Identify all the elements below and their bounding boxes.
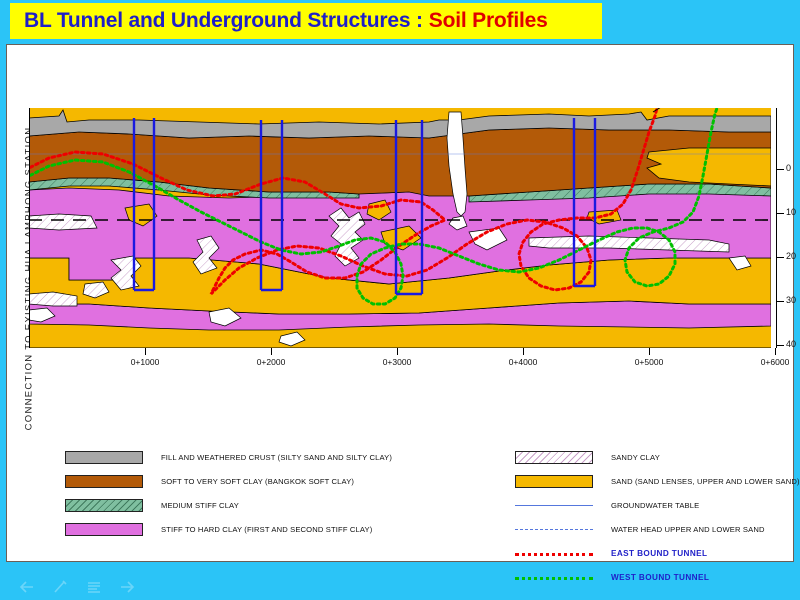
legend-soft-clay: SOFT TO VERY SOFT CLAY (BANGKOK SOFT CLA…: [65, 469, 392, 493]
legend-sandy-clay-swatch: [515, 451, 593, 464]
legend-west-bound-tunnel: WEST BOUND TUNNEL: [515, 565, 800, 589]
depth-tick: [777, 169, 784, 170]
chainage-tick: [649, 348, 650, 355]
depth-label: 30: [786, 295, 796, 305]
chainage-label: 0+1000: [131, 357, 160, 367]
axis-right: [776, 108, 777, 348]
legend-groundwater-table-label: GROUNDWATER TABLE: [611, 501, 699, 510]
depth-tick: [777, 301, 784, 302]
forward-arrow-icon[interactable]: [120, 580, 136, 594]
legend-groundwater-table-sample: [515, 499, 593, 512]
legend-soft-clay-swatch: [65, 475, 143, 488]
section-svg: [29, 108, 771, 348]
legend-fill-weathered-crust-swatch: [65, 451, 143, 464]
depth-label: 40: [786, 339, 796, 349]
chainage-label: 0+4000: [509, 357, 538, 367]
legend-medium-stiff-clay-label: MEDIUM STIFF CLAY: [161, 501, 239, 510]
bottom-toolbar[interactable]: [18, 580, 136, 594]
legend-east-bound-tunnel-sample: [515, 547, 593, 560]
page-title-main: BL Tunnel and Underground Structures :: [24, 9, 423, 33]
depth-tick: [777, 345, 784, 346]
legend-west-bound-tunnel-sample: [515, 571, 593, 584]
chainage-tick: [271, 348, 272, 355]
chainage-label: 0+6000: [761, 357, 790, 367]
depth-label: 20: [786, 251, 796, 261]
legend-fill-weathered-crust-label: FILL AND WEATHERED CRUST (SILTY SAND AND…: [161, 453, 392, 462]
axis-left: [29, 108, 30, 348]
depth-label: 10: [786, 207, 796, 217]
legend-sand: SAND (SAND LENSES, UPPER AND LOWER SAND): [515, 469, 800, 493]
sandy-clay-lens-1: [29, 214, 97, 230]
chainage-label: 0+3000: [383, 357, 412, 367]
legend-soft-clay-label: SOFT TO VERY SOFT CLAY (BANGKOK SOFT CLA…: [161, 477, 354, 486]
chainage-tick: [145, 348, 146, 355]
depth-tick: [777, 213, 784, 214]
legend-sand-label: SAND (SAND LENSES, UPPER AND LOWER SAND): [611, 477, 800, 486]
legend-right-column: SANDY CLAYSAND (SAND LENSES, UPPER AND L…: [515, 445, 800, 589]
legend-stiff-hard-clay-label: STIFF TO HARD CLAY (FIRST AND SECOND STI…: [161, 525, 372, 534]
list-icon[interactable]: [86, 580, 102, 594]
chainage-tick: [775, 348, 776, 355]
page-title-highlight: Soil Profiles: [429, 9, 548, 33]
legend-fill-weathered-crust: FILL AND WEATHERED CRUST (SILTY SAND AND…: [65, 445, 392, 469]
legend-sandy-clay-label: SANDY CLAY: [611, 453, 660, 462]
legend-groundwater-table: GROUNDWATER TABLE: [515, 493, 800, 517]
legend-east-bound-tunnel-label: EAST BOUND TUNNEL: [611, 549, 707, 558]
legend-water-head-sample: [515, 523, 593, 536]
depth-tick: [777, 257, 784, 258]
pen-icon[interactable]: [52, 580, 68, 594]
legend-left-column: FILL AND WEATHERED CRUST (SILTY SAND AND…: [65, 445, 392, 541]
depth-label: 0: [786, 163, 791, 173]
soil-profile-section: [29, 108, 771, 348]
legend-stiff-hard-clay-swatch: [65, 523, 143, 536]
legend-water-head-label: WATER HEAD UPPER AND LOWER SAND: [611, 525, 765, 534]
back-arrow-icon[interactable]: [18, 580, 34, 594]
chainage-label: 0+2000: [257, 357, 286, 367]
legend-stiff-hard-clay: STIFF TO HARD CLAY (FIRST AND SECOND STI…: [65, 517, 392, 541]
legend-sand-swatch: [515, 475, 593, 488]
chainage-tick: [397, 348, 398, 355]
legend-medium-stiff-clay-swatch: [65, 499, 143, 512]
legend-medium-stiff-clay: MEDIUM STIFF CLAY: [65, 493, 392, 517]
legend-sandy-clay: SANDY CLAY: [515, 445, 800, 469]
title-banner: BL Tunnel and Underground Structures : S…: [10, 3, 602, 39]
legend-west-bound-tunnel-label: WEST BOUND TUNNEL: [611, 573, 709, 582]
legend-east-bound-tunnel: EAST BOUND TUNNEL: [515, 541, 800, 565]
chainage-label: 0+5000: [635, 357, 664, 367]
chainage-tick: [523, 348, 524, 355]
legend-water-head: WATER HEAD UPPER AND LOWER SAND: [515, 517, 800, 541]
diagram-panel: CONNECTION TO EXISTING HUA LAMPHONG STAT…: [6, 44, 794, 562]
